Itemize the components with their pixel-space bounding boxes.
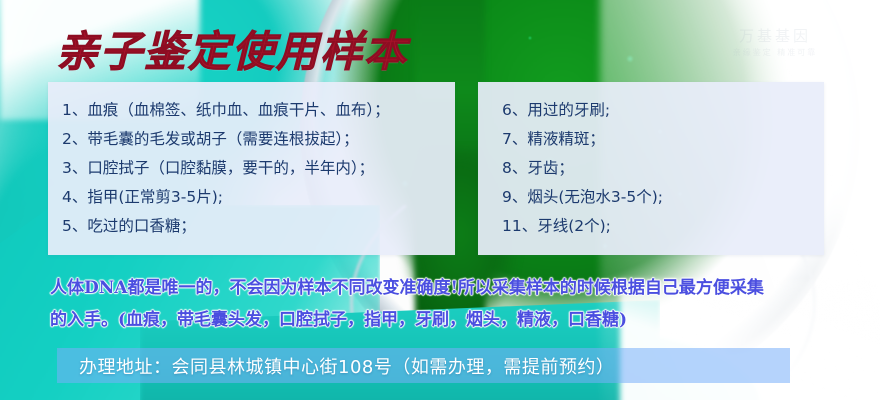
page-title: 亲子鉴定使用样本 — [56, 18, 408, 79]
address-banner: 办理地址：会同县林城镇中心街108号（如需办理，需提前预约） — [57, 348, 790, 383]
list-item: 9、烟头(无泡水3-5个); — [502, 183, 824, 212]
note-line-1: 人体DNA都是唯一的，不会因为样本不同改变准确度!所以采集样本的时候根据自己最方… — [50, 272, 850, 304]
sample-list-right-box: 6、用过的牙刷; 7、精液精斑； 8、牙齿； 9、烟头(无泡水3-5个); 11… — [478, 82, 824, 255]
address-banner-text: 办理地址：会同县林城镇中心街108号（如需办理，需提前预约） — [57, 353, 614, 379]
list-item: 3、口腔拭子（口腔黏膜，要干的，半年内）； — [62, 154, 455, 183]
note-paragraph: 人体DNA都是唯一的，不会因为样本不同改变准确度!所以采集样本的时候根据自己最方… — [50, 272, 850, 336]
note-line-2: 的入手。(血痕，带毛囊头发，口腔拭子，指甲，牙刷，烟头，精液，口香糖) — [50, 304, 850, 336]
list-item: 1、血痕（血棉签、纸巾血、血痕干片、血布）； — [62, 96, 455, 125]
list-item: 11、牙线(2个); — [502, 212, 824, 241]
list-item: 5、吃过的口香糖； — [62, 212, 455, 241]
list-item: 7、精液精斑； — [502, 125, 824, 154]
poster-root: 万基基因 亲缘鉴定 精准可靠 亲子鉴定使用样本 1、血痕（血棉签、纸巾血、血痕干… — [0, 0, 880, 400]
sample-list-left-box: 1、血痕（血棉签、纸巾血、血痕干片、血布）； 2、带毛囊的毛发或胡子（需要连根拔… — [48, 82, 455, 255]
list-item: 8、牙齿； — [502, 154, 824, 183]
list-item: 2、带毛囊的毛发或胡子（需要连根拔起）； — [62, 125, 455, 154]
list-item: 4、指甲(正常剪3-5片); — [62, 183, 455, 212]
list-item: 6、用过的牙刷; — [502, 96, 824, 125]
